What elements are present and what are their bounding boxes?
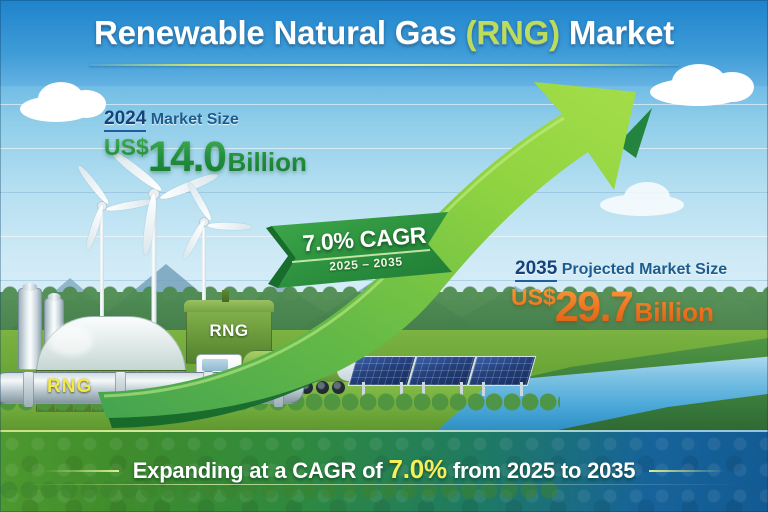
market-2024-unit: Billion xyxy=(227,147,306,177)
banner-rule-right xyxy=(649,470,725,472)
market-2035-year: 2035 xyxy=(515,258,557,282)
cagr-rate: 7.0% CAGR xyxy=(302,221,427,257)
infographic-canvas: RNG BIOGAS RNG xyxy=(0,0,768,512)
title-part-1: Renewable Natural Gas xyxy=(94,14,466,51)
market-2035-label-text: Projected Market Size xyxy=(557,261,727,278)
market-2035-value: US$29.7Billion xyxy=(511,286,727,329)
cagr-ribbon: 7.0% CAGR 2025 – 2035 xyxy=(276,219,454,281)
market-2024-number: 14.0 xyxy=(148,133,226,181)
cagr-period: 2025 – 2035 xyxy=(329,254,403,273)
banner-bottom-rule xyxy=(24,484,744,485)
market-2024-label: 2024 Market Size xyxy=(104,108,307,130)
bottom-banner: Expanding at a CAGR of 7.0% from 2025 to… xyxy=(0,430,768,512)
market-size-2024-block: 2024 Market Size US$14.0Billion xyxy=(104,108,307,179)
market-2035-number: 29.7 xyxy=(555,283,633,331)
title-area: Renewable Natural Gas (RNG) Market xyxy=(0,14,768,52)
truck-window xyxy=(202,359,228,371)
market-2035-unit: Billion xyxy=(634,297,713,327)
banner-text-after: from 2025 to 2035 xyxy=(447,458,635,483)
solar-panel xyxy=(408,356,477,386)
tank-vent xyxy=(222,290,229,302)
market-2035-currency: US$ xyxy=(511,286,556,309)
market-2024-label-text: Market Size xyxy=(146,111,238,128)
market-size-2035-block: 2035 Projected Market Size US$29.7Billio… xyxy=(515,258,727,329)
rng-tank-label: RNG xyxy=(187,321,271,341)
title-highlight-rng: (RNG) xyxy=(466,14,560,51)
market-2024-value: US$14.0Billion xyxy=(104,136,307,179)
title-part-2: Market xyxy=(560,14,674,51)
page-title: Renewable Natural Gas (RNG) Market xyxy=(88,14,680,52)
banner-summary-text: Expanding at a CAGR of 7.0% from 2025 to… xyxy=(133,454,636,485)
title-underline-rule xyxy=(89,64,679,66)
market-2035-label: 2035 Projected Market Size xyxy=(515,258,727,280)
market-2024-currency: US$ xyxy=(104,136,149,159)
market-2024-year: 2024 xyxy=(104,108,146,132)
banner-text-before: Expanding at a CAGR of xyxy=(133,458,389,483)
rng-pipeline: RNG xyxy=(0,372,304,404)
pipeline-label: RNG xyxy=(47,376,92,398)
banner-rule-left xyxy=(43,470,119,472)
banner-cagr-highlight: 7.0% xyxy=(388,454,446,484)
solar-panel xyxy=(468,356,537,386)
biogas-truck-label: BIOGAS xyxy=(248,358,334,373)
solar-panel xyxy=(348,356,417,386)
